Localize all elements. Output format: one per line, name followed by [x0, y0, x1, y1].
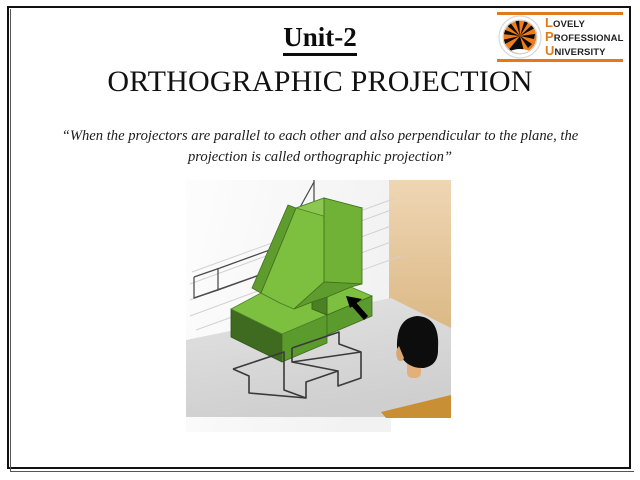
page-title: ORTHOGRAPHIC PROJECTION: [0, 65, 640, 99]
unit-heading-text: Unit-2: [283, 22, 357, 56]
slide: LOVELY PROFESSIONAL UNIVERSITY Unit-2 OR…: [0, 0, 640, 480]
definition-quote: “When the projectors are parallel to eac…: [48, 126, 592, 168]
unit-heading: Unit-2: [0, 22, 640, 53]
object-wedge-right-face: [324, 198, 362, 284]
orthographic-projection-illustration: [186, 180, 451, 432]
projection-diagram-svg: [186, 180, 451, 432]
